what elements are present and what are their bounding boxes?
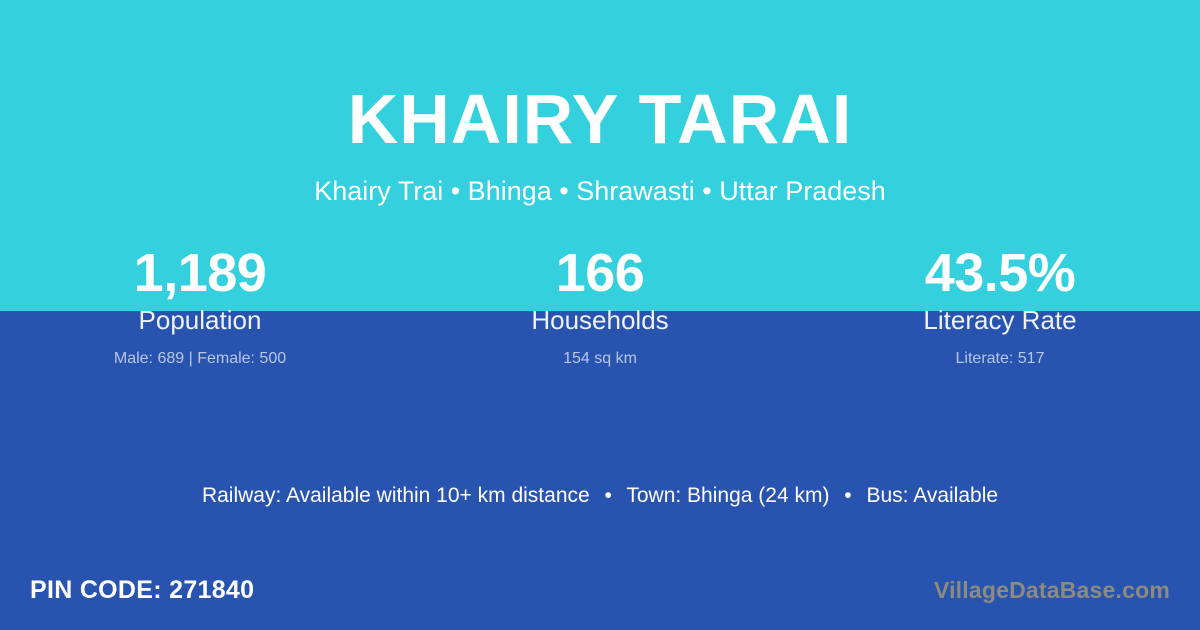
pin-code: PIN CODE: 271840 (30, 576, 254, 605)
bullet-separator-icon: • (835, 484, 860, 508)
stat-value-population: 1,189 (0, 243, 400, 303)
amenity-railway: Railway: Available within 10+ km distanc… (202, 484, 590, 507)
stat-population: 1,189 Population Male: 689 | Female: 500 (0, 243, 400, 368)
village-info-card: KHAIRY TARAI Khairy Trai • Bhinga • Shra… (0, 0, 1200, 630)
site-brand: VillageDataBase.com (934, 577, 1170, 604)
stat-sub-households: 154 sq km (400, 349, 800, 368)
page-title: KHAIRY TARAI (0, 84, 1200, 154)
stats-row: 1,189 Population Male: 689 | Female: 500… (0, 243, 1200, 368)
stat-value-literacy-rate: 43.5% (800, 243, 1200, 303)
stat-label-literacy-rate: Literacy Rate (800, 305, 1200, 336)
stat-households: 166 Households 154 sq km (400, 243, 800, 368)
stat-label-households: Households (400, 305, 800, 336)
stat-value-households: 166 (400, 243, 800, 303)
header: KHAIRY TARAI Khairy Trai • Bhinga • Shra… (0, 0, 1200, 207)
stat-sub-literacy-rate: Literate: 517 (800, 349, 1200, 368)
amenities-line: Railway: Available within 10+ km distanc… (0, 484, 1200, 508)
stat-sub-population: Male: 689 | Female: 500 (0, 349, 400, 368)
breadcrumb: Khairy Trai • Bhinga • Shrawasti • Uttar… (0, 176, 1200, 207)
stat-literacy-rate: 43.5% Literacy Rate Literate: 517 (800, 243, 1200, 368)
amenity-town: Town: Bhinga (24 km) (626, 484, 829, 507)
stat-label-population: Population (0, 305, 400, 336)
amenity-bus: Bus: Available (867, 484, 999, 507)
footer: PIN CODE: 271840 VillageDataBase.com (0, 558, 1200, 630)
bullet-separator-icon: • (596, 484, 621, 508)
